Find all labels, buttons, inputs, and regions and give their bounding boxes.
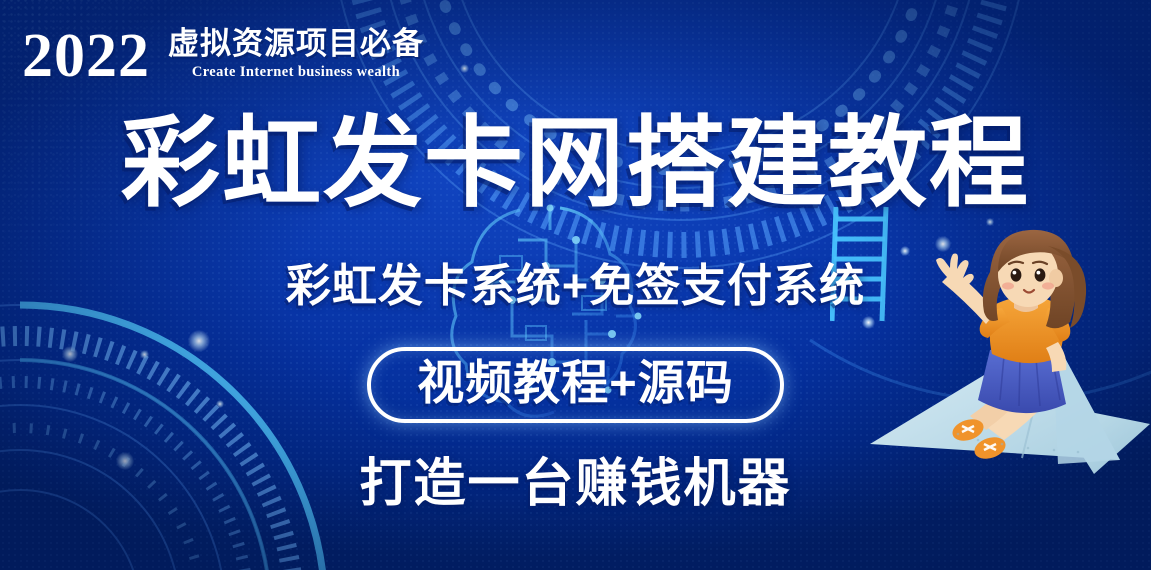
pill-badge: 视频教程+源码 [367,347,783,423]
pill-badge-row: 视频教程+源码 [0,347,1151,423]
subtitle-text: 彩虹发卡系统+免签支付系统 [0,263,1151,308]
kicker-english-label: Create Internet business wealth [168,64,424,81]
promo-banner: 2022 虚拟资源项目必备 Create Internet business w… [0,0,1151,570]
year-label: 2022 [22,28,150,85]
kicker-text-group: 虚拟资源项目必备 Create Internet business wealth [168,28,424,85]
kicker-chinese-label: 虚拟资源项目必备 [168,28,424,61]
headline-title: 彩虹发卡网搭建教程 [0,113,1151,212]
kicker-block: 2022 虚拟资源项目必备 Create Internet business w… [22,28,424,85]
tagline-text: 打造一台赚钱机器 [0,458,1151,510]
pill-badge-label: 视频教程+源码 [417,359,733,407]
